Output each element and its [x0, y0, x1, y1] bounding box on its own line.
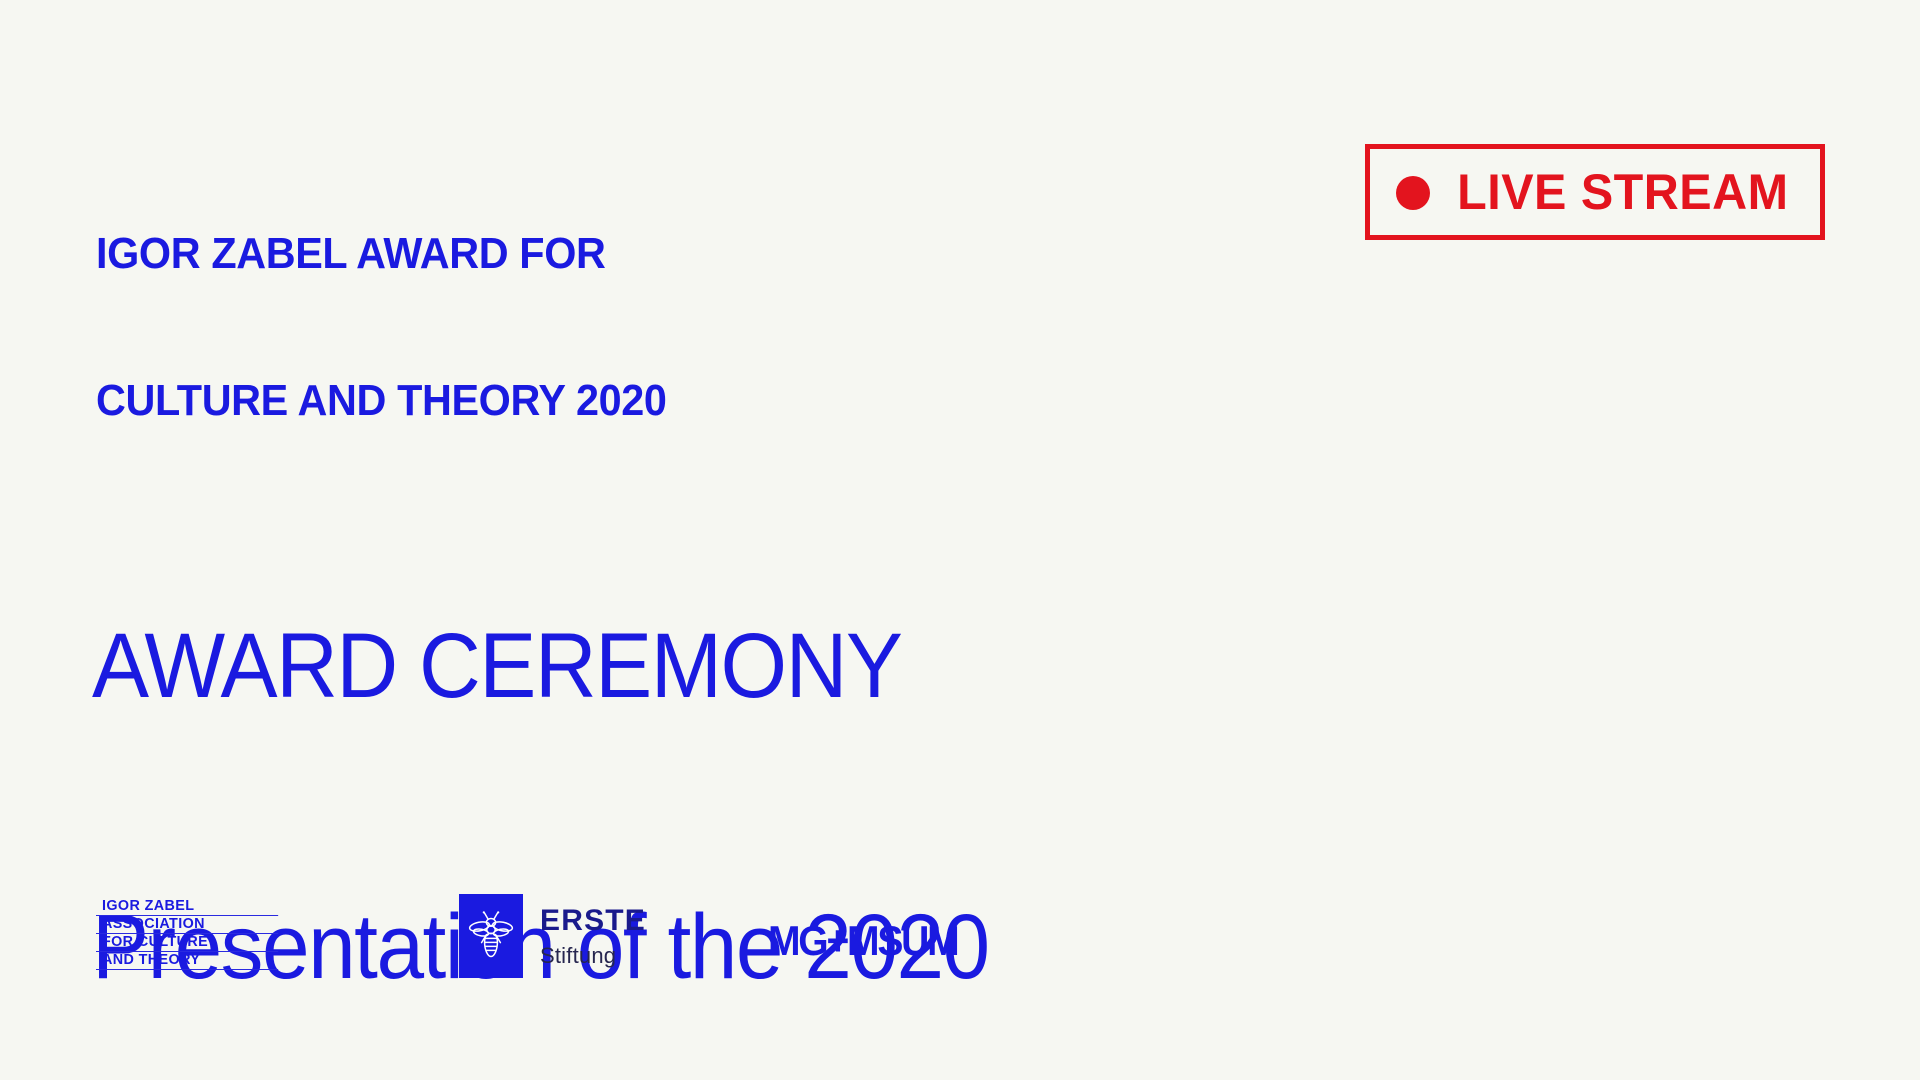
event-header-line-1: IGOR ZABEL AWARD FOR — [96, 229, 667, 278]
sponsor-logo-row: IGOR ZABEL ASSOCIATION FOR CULTURE AND T… — [96, 898, 1096, 1008]
logo-erste-title: ERSTE — [540, 905, 646, 937]
logo-igor-zabel-line-2: ASSOCIATION — [96, 916, 278, 934]
page-title-line-1: AWARD CEREMONY — [92, 620, 1062, 714]
event-header-line-2: CULTURE AND THEORY 2020 — [96, 376, 667, 425]
logo-igor-zabel-line-4: AND THEORY — [96, 952, 278, 970]
logo-igor-zabel-line-1: IGOR ZABEL — [96, 898, 278, 916]
logo-mg-msum[interactable]: MG+MSUM — [768, 920, 957, 962]
record-dot-icon — [1396, 176, 1430, 210]
event-header: IGOR ZABEL AWARD FOR CULTURE AND THEORY … — [96, 130, 667, 475]
logo-igor-zabel-line-3: FOR CULTURE — [96, 934, 278, 952]
logo-erste-wordmark: ERSTE Stiftung — [540, 905, 646, 967]
live-stream-label: LIVE STREAM — [1457, 167, 1788, 217]
logo-erste-stiftung[interactable]: ERSTE Stiftung — [459, 894, 646, 978]
bee-icon — [459, 894, 523, 978]
live-stream-badge[interactable]: LIVE STREAM — [1365, 144, 1825, 240]
logo-erste-subtitle: Stiftung — [540, 944, 646, 967]
logo-igor-zabel-association[interactable]: IGOR ZABEL ASSOCIATION FOR CULTURE AND T… — [96, 898, 280, 970]
